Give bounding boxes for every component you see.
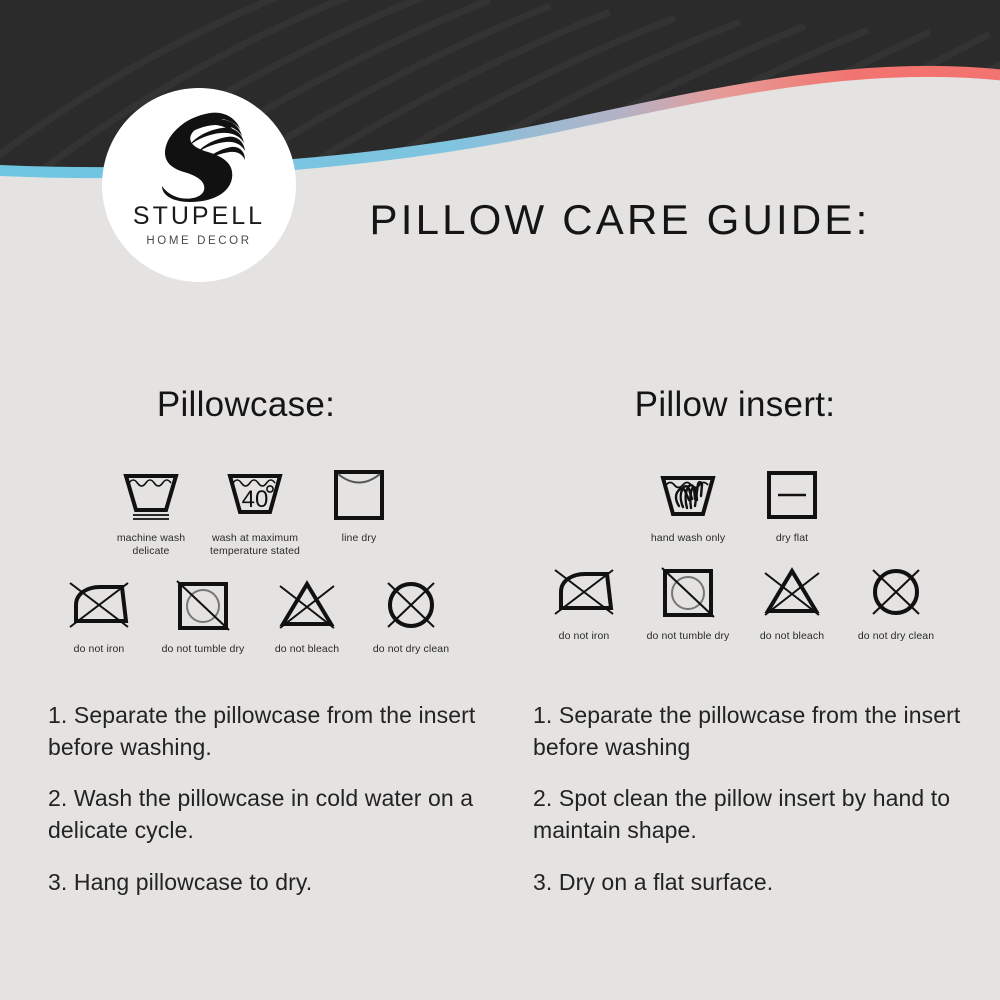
care-icon-hand-wash-only: hand wash only: [636, 463, 740, 545]
instructions-pillowcase: 1. Separate the pillowcase from the inse…: [48, 700, 488, 899]
care-icon-caption: machine wash delicate: [99, 532, 203, 558]
stupell-swoosh-logo-icon: [144, 110, 254, 202]
care-icon-row-wash-insert: hand wash only dry flat: [505, 463, 975, 545]
care-icon-do-not-tumble-dry: do not tumble dry: [636, 561, 740, 643]
section-pillowcase: Pillowcase: machine wash delicate: [20, 385, 490, 656]
hand-wash-only-icon: [657, 463, 719, 525]
wash-max-temperature-40-icon: 40: [224, 463, 286, 525]
care-icon-caption: do not bleach: [760, 630, 824, 643]
instruction-step: 3. Hang pillowcase to dry.: [48, 867, 488, 899]
instruction-step: 2. Wash the pillowcase in cold water on …: [48, 783, 488, 846]
do-not-iron-icon: [66, 574, 132, 636]
svg-text:40: 40: [242, 486, 269, 513]
do-not-dry-clean-icon: [382, 574, 440, 636]
instruction-step: 2. Spot clean the pillow insert by hand …: [533, 783, 973, 846]
brand-sub-wordmark: HOME DECOR: [146, 236, 251, 248]
care-icon-row-wash-pillowcase: machine wash delicate 40 wash at maximum…: [20, 463, 490, 558]
care-icon-do-not-dry-clean: do not dry clean: [359, 574, 463, 656]
care-icon-do-not-bleach: do not bleach: [740, 561, 844, 643]
section-heading-pillowcase: Pillowcase:: [20, 385, 490, 425]
care-icon-caption: do not iron: [559, 630, 610, 643]
do-not-tumble-dry-icon: [174, 574, 232, 636]
do-not-bleach-icon: [276, 574, 338, 636]
care-icon-row-restrictions-pillowcase: do not iron do not tumble dry: [20, 574, 490, 656]
care-icon-machine-wash-delicate: machine wash delicate: [99, 463, 203, 558]
care-icon-caption: dry flat: [776, 532, 808, 545]
instruction-step: 3. Dry on a flat surface.: [533, 867, 973, 899]
care-icon-caption: line dry: [342, 532, 377, 545]
care-icon-caption: do not tumble dry: [162, 643, 245, 656]
do-not-iron-icon: [551, 561, 617, 623]
line-dry-icon: [330, 463, 388, 525]
care-icon-caption: do not bleach: [275, 643, 339, 656]
instruction-step: 1. Separate the pillowcase from the inse…: [48, 700, 488, 763]
do-not-bleach-icon: [761, 561, 823, 623]
section-heading-pillow-insert: Pillow insert:: [505, 385, 975, 425]
section-pillow-insert: Pillow insert: hand wash only: [505, 385, 975, 643]
do-not-tumble-dry-icon: [659, 561, 717, 623]
care-icon-caption: do not tumble dry: [647, 630, 730, 643]
care-icon-caption: do not dry clean: [373, 643, 449, 656]
machine-wash-delicate-icon: [120, 463, 182, 525]
care-icon-caption: wash at maximum temperature stated: [203, 532, 307, 558]
care-icon-do-not-iron: do not iron: [532, 561, 636, 643]
care-icon-wash-max-temperature: 40 wash at maximum temperature stated: [203, 463, 307, 558]
brand-wordmark: STUPELL: [133, 204, 265, 229]
care-icon-caption: hand wash only: [651, 532, 725, 545]
care-icon-caption: do not dry clean: [858, 630, 934, 643]
instructions-pillow-insert: 1. Separate the pillowcase from the inse…: [533, 700, 973, 899]
pillow-care-guide-page: STUPELL HOME DECOR PILLOW CARE GUIDE: Pi…: [0, 0, 1000, 1000]
brand-logo-badge: STUPELL HOME DECOR: [102, 88, 296, 282]
care-icon-do-not-tumble-dry: do not tumble dry: [151, 574, 255, 656]
care-icon-do-not-bleach: do not bleach: [255, 574, 359, 656]
care-icon-do-not-iron: do not iron: [47, 574, 151, 656]
do-not-dry-clean-icon: [867, 561, 925, 623]
care-icon-line-dry: line dry: [307, 463, 411, 545]
instruction-step: 1. Separate the pillowcase from the inse…: [533, 700, 973, 763]
care-icon-do-not-dry-clean: do not dry clean: [844, 561, 948, 643]
care-icon-caption: do not iron: [74, 643, 125, 656]
care-icon-dry-flat: dry flat: [740, 463, 844, 545]
dry-flat-icon: [763, 463, 821, 525]
care-icon-row-restrictions-insert: do not iron do not tumble dry: [505, 561, 975, 643]
